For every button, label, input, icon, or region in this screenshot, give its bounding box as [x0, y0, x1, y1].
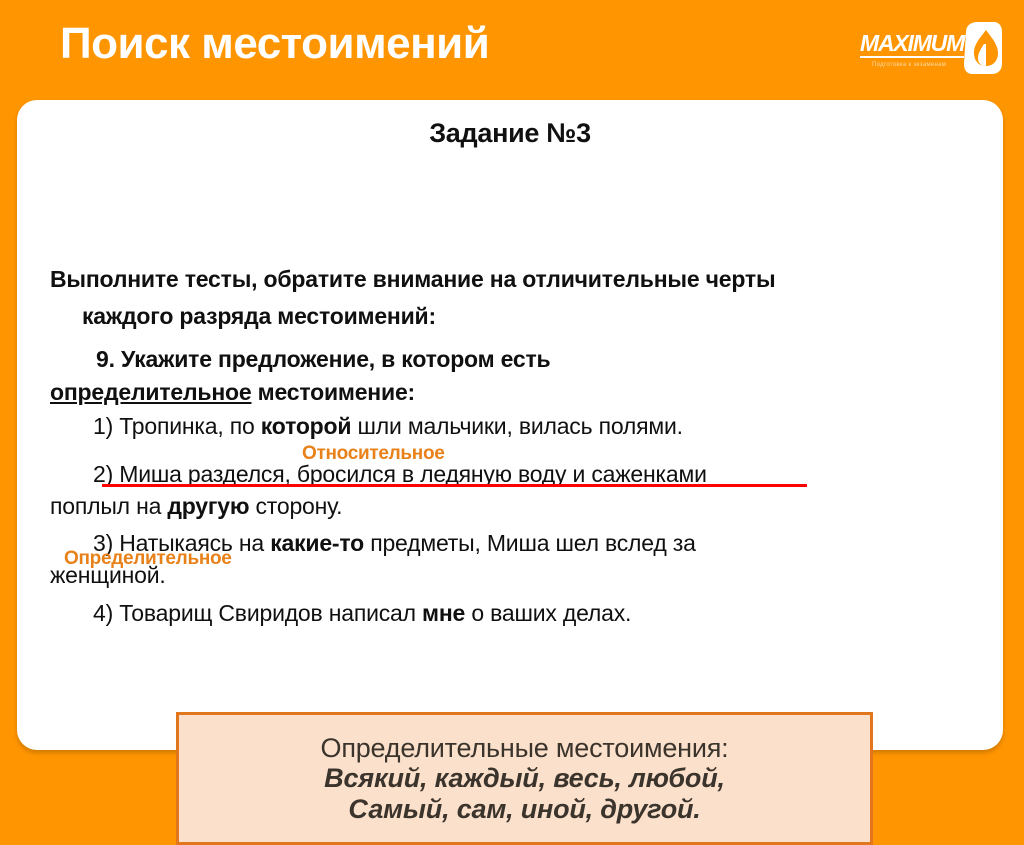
flame-badge-icon [960, 20, 1002, 76]
instruction-line-2: каждого разряда местоимений: [82, 303, 436, 330]
callout-box: Определительные местоимения: Всякий, каж… [176, 712, 873, 845]
question-line-2: определительное местоимение: [50, 379, 415, 406]
option-1-bold: которой [261, 413, 352, 439]
instruction-line-1: Выполните тесты, обратите внимание на от… [50, 266, 775, 293]
option-4[interactable]: 4) Товарищ Свиридов написал мне о ваших … [93, 600, 631, 627]
content-card: Задание №3 Выполните тесты, обратите вни… [17, 100, 1003, 750]
option-4-number: 4) [93, 600, 113, 626]
logo-wordmark: MAXIMUM [860, 32, 964, 58]
question-line-2-rest: местоимение: [251, 379, 415, 405]
option-4-bold: мне [422, 600, 465, 626]
logo-tagline: Подготовка к экзаменам [872, 62, 946, 68]
option-3-post: предметы, Миша шел вслед за [364, 530, 696, 556]
callout-line-2: Самый, сам, иной, другой. [348, 794, 700, 824]
slide-root: Поиск местоимений MAXIMUM Подготовка к э… [0, 0, 1024, 768]
option-2-continuation[interactable]: поплыл на другую сторону. [50, 493, 342, 520]
question-line-1: 9. Укажите предложение, в котором есть [96, 346, 551, 373]
option-1[interactable]: 1) Тропинка, по которой шли мальчики, ви… [93, 413, 683, 440]
option-4-post: о ваших делах. [465, 600, 631, 626]
question-underlined-term: определительное [50, 379, 251, 405]
annotation-relative: Относительное [302, 443, 445, 465]
option-1-pre: Тропинка, по [113, 413, 261, 439]
slide-header: Поиск местоимений MAXIMUM Подготовка к э… [0, 0, 1024, 100]
option-1-number: 1) [93, 413, 113, 439]
callout-title: Определительные местоимения: [321, 733, 729, 763]
brand-logo: MAXIMUM Подготовка к экзаменам [860, 22, 1000, 80]
red-underline-mark [102, 484, 807, 487]
option-1-post: шли мальчики, вилась полями. [351, 413, 683, 439]
page-title: Поиск местоимений [60, 22, 489, 66]
option-3-bold: какие-то [270, 530, 364, 556]
option-2-second-bold: другую [167, 493, 249, 519]
task-heading: Задание №3 [17, 118, 1003, 149]
option-2-second-post: сторону. [249, 493, 342, 519]
option-2-second-pre: поплыл на [50, 493, 167, 519]
annotation-definitive: Определительное [64, 548, 232, 570]
option-4-pre: Товарищ Свиридов написал [113, 600, 422, 626]
